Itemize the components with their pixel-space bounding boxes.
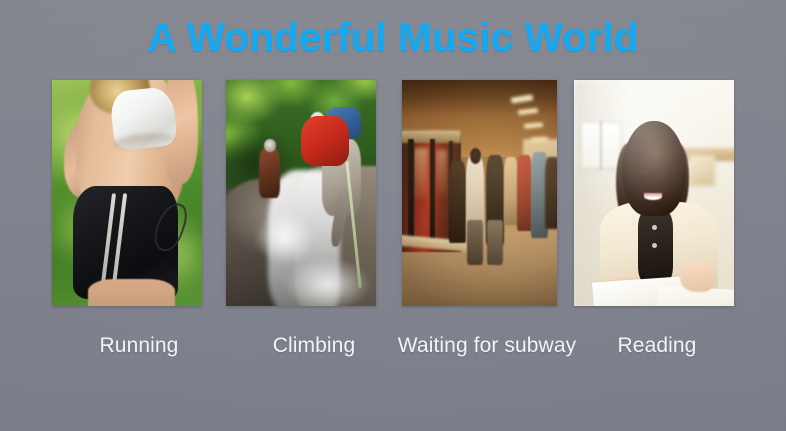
water-pool	[286, 261, 376, 306]
photo-gallery	[52, 80, 734, 306]
caption-climbing: Climbing	[226, 330, 402, 362]
red-backpack	[301, 116, 349, 166]
page-title: A Wonderful Music World	[0, 13, 786, 61]
gallery-item-running[interactable]	[52, 80, 202, 306]
gallery-item-climbing[interactable]	[226, 80, 376, 306]
running-photo[interactable]	[52, 80, 202, 306]
runner-thigh	[88, 279, 175, 306]
warm-color-wash	[402, 80, 557, 306]
presentation-slide: A Wonderful Music World	[0, 0, 786, 431]
gallery-item-reading[interactable]	[574, 80, 734, 306]
background-climber	[259, 148, 280, 198]
gallery-item-subway[interactable]	[402, 80, 557, 306]
caption-subway: Waiting for subway	[392, 330, 582, 362]
climbing-photo[interactable]	[226, 80, 376, 306]
subway-photo[interactable]	[402, 80, 557, 306]
caption-reading: Reading	[580, 330, 734, 362]
photo-captions: Running Climbing Waiting for subway Read…	[52, 330, 734, 364]
caption-running: Running	[52, 330, 226, 362]
bright-light-wash	[574, 80, 734, 306]
background-climber-helmet	[264, 139, 276, 153]
reading-photo[interactable]	[574, 80, 734, 306]
